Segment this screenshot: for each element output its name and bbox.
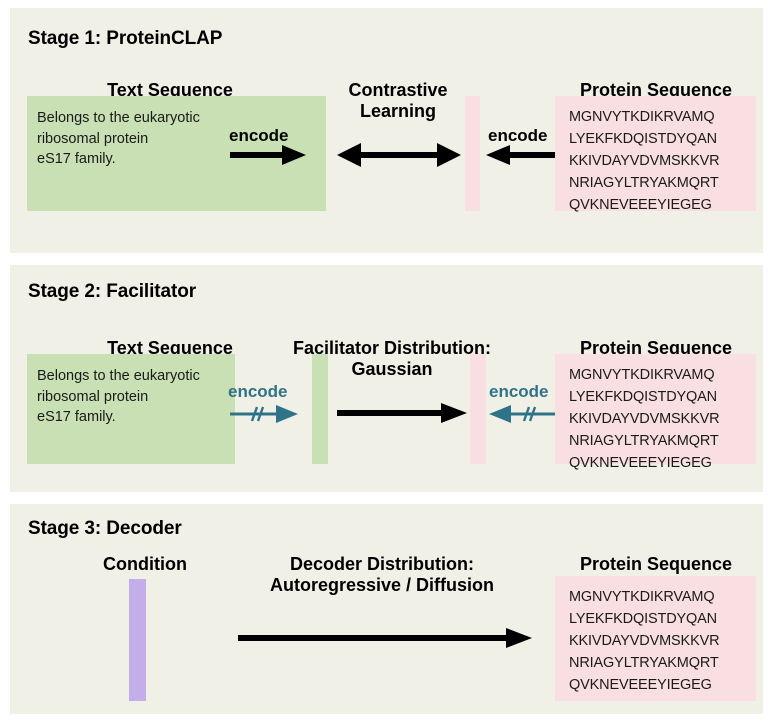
stage-2-encode-left-label: encode	[228, 382, 288, 402]
stage-1-encode-left-label: encode	[229, 126, 289, 146]
stage-1-protein-sequence-box: MGNVYTKDIKRVAMQ LYEKFKDQISTDYQAN KKIVDAY…	[555, 96, 756, 211]
stage-2-title: Stage 2: Facilitator	[28, 281, 196, 303]
stage-2-encode-left-frozen-arrow	[230, 403, 300, 425]
stage-1-text-embedding-bar	[311, 96, 326, 211]
stage-1-center-heading: Contrastive Learning	[328, 80, 468, 122]
stage-2-facilitator-arrow	[337, 401, 469, 425]
stage-3-protein-sequence-heading: Protein Sequence	[556, 554, 756, 575]
protein-sequence-line: KKIVDAYVDVMSKKVR	[569, 150, 748, 172]
stage-2-protein-embedding-bar	[470, 354, 486, 464]
protein-sequence-line: KKIVDAYVDVMSKKVR	[569, 630, 748, 652]
stage-3-protein-sequence-box: MGNVYTKDIKRVAMQ LYEKFKDQISTDYQAN KKIVDAY…	[555, 576, 756, 701]
stage-1-panel: Stage 1: ProteinCLAP Text Sequence Belon…	[10, 8, 763, 253]
protein-sequence-line: MGNVYTKDIKRVAMQ	[569, 586, 748, 608]
stage-3-decoder-arrow	[238, 626, 534, 650]
stage-3-center-heading-line2: Autoregressive / Diffusion	[270, 575, 494, 595]
stage-2-text-sequence-box: Belongs to the eukaryotic ribosomal prot…	[27, 354, 235, 464]
protein-sequence-line: KKIVDAYVDVMSKKVR	[569, 408, 748, 430]
protein-sequence-line: MGNVYTKDIKRVAMQ	[569, 364, 748, 386]
text-sequence-line: ribosomal protein	[37, 387, 227, 408]
protein-sequence-line: LYEKFKDQISTDYQAN	[569, 608, 748, 630]
stage-1-contrastive-bidirectional-arrow	[335, 141, 463, 169]
stage-1-title: Stage 1: ProteinCLAP	[28, 28, 222, 50]
protein-sequence-line: NRIAGYLTRYAKMQRT	[569, 172, 748, 194]
stage-2-encode-right-label: encode	[489, 382, 549, 402]
stage-1-encode-right-arrow	[482, 144, 562, 166]
stage-3-panel: Stage 3: Decoder Condition Decoder Distr…	[10, 504, 763, 714]
stage-1-encode-left-arrow	[230, 144, 308, 166]
text-sequence-line: Belongs to the eukaryotic	[37, 366, 227, 387]
stage-2-center-heading-line1: Facilitator Distribution:	[293, 338, 491, 358]
protein-sequence-line: NRIAGYLTRYAKMQRT	[569, 652, 748, 674]
protein-sequence-line: QVKNEVEEEYIEGEG	[569, 194, 748, 216]
stage-1-encode-right-label: encode	[488, 126, 548, 146]
stage-1-protein-embedding-bar	[465, 96, 480, 211]
stage-3-condition-bar	[129, 579, 146, 701]
protein-sequence-line: QVKNEVEEEYIEGEG	[569, 674, 748, 696]
stage-1-center-heading-line1: Contrastive	[348, 80, 447, 100]
stage-2-encode-right-frozen-arrow	[487, 403, 557, 425]
stage-3-center-heading-line1: Decoder Distribution:	[290, 554, 474, 574]
stage-2-protein-sequence-box: MGNVYTKDIKRVAMQ LYEKFKDQISTDYQAN KKIVDAY…	[555, 354, 756, 464]
protein-sequence-line: NRIAGYLTRYAKMQRT	[569, 430, 748, 452]
stage-3-condition-heading: Condition	[70, 554, 220, 575]
stage-2-panel: Stage 2: Facilitator Text Sequence Belon…	[10, 265, 763, 492]
stage-3-center-heading: Decoder Distribution: Autoregressive / D…	[232, 554, 532, 596]
protein-sequence-line: QVKNEVEEEYIEGEG	[569, 452, 748, 474]
protein-sequence-line: MGNVYTKDIKRVAMQ	[569, 106, 748, 128]
stage-2-center-heading-line2: Gaussian	[351, 359, 432, 379]
stage-3-title: Stage 3: Decoder	[28, 518, 182, 540]
protein-sequence-line: LYEKFKDQISTDYQAN	[569, 128, 748, 150]
pipeline-diagram: Stage 1: ProteinCLAP Text Sequence Belon…	[0, 0, 773, 722]
protein-sequence-line: LYEKFKDQISTDYQAN	[569, 386, 748, 408]
stage-1-center-heading-line2: Learning	[360, 101, 436, 121]
text-sequence-line: eS17 family.	[37, 407, 227, 428]
